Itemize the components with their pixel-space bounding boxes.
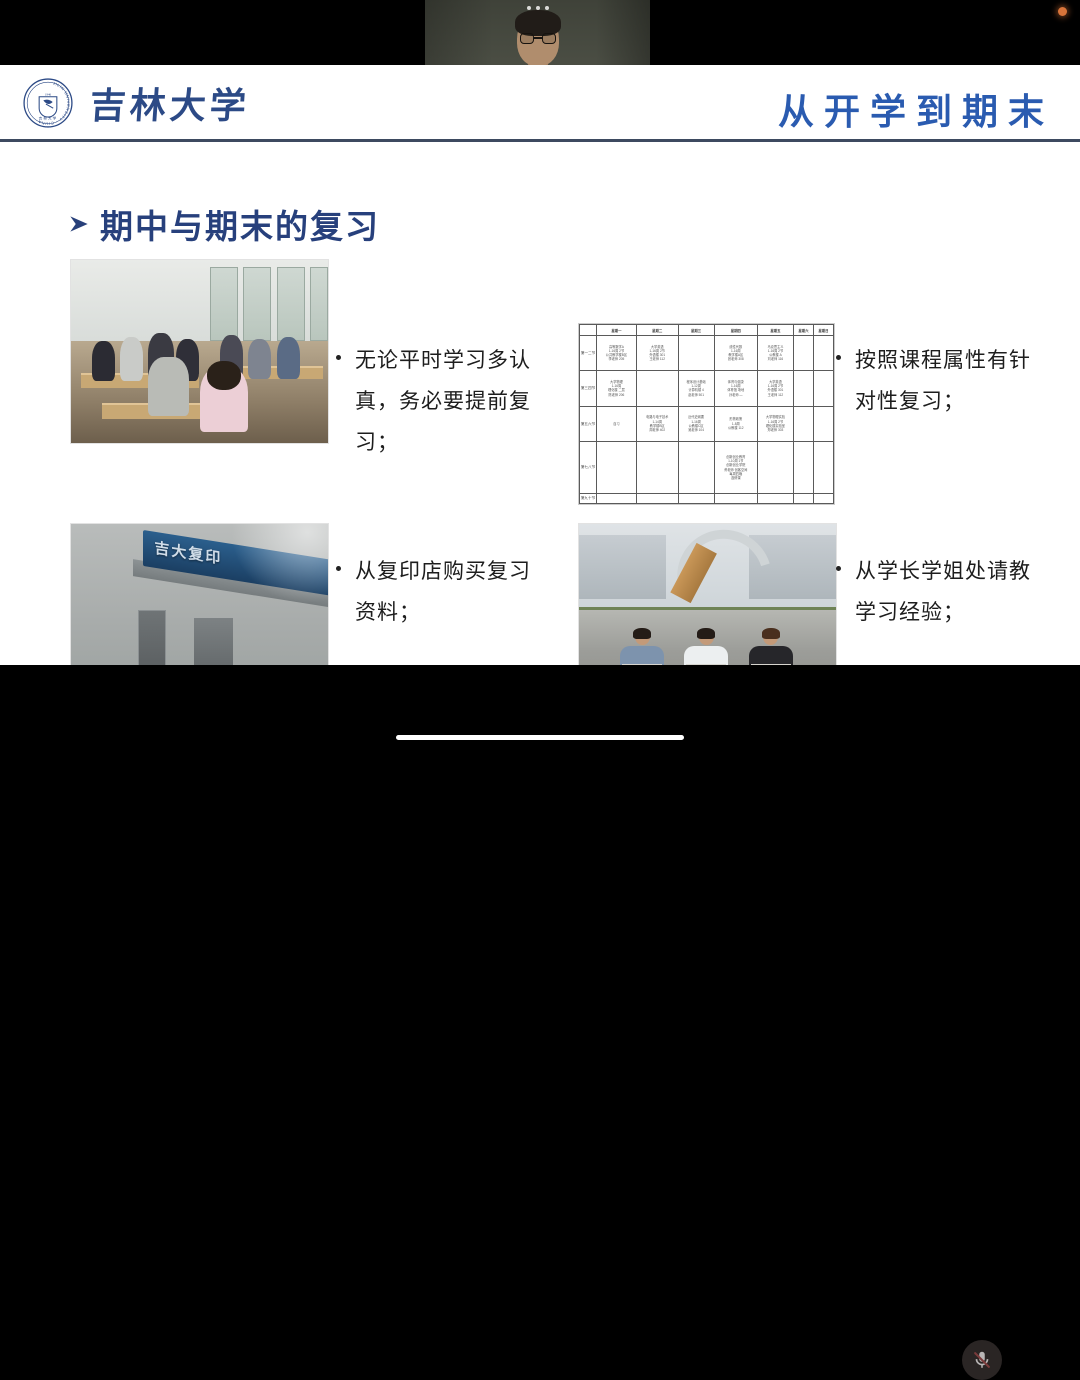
schedule-col: 星期三: [678, 325, 714, 336]
schedule-cell: 自习: [597, 406, 637, 441]
schedule-table: 星期一星期二 星期三星期四 星期五星期六 星期日 第一二节高等数学A 1-16周…: [579, 324, 834, 504]
schedule-cell: [793, 494, 813, 504]
schedule-cell: [597, 494, 637, 504]
schedule-row-head: 第一二节: [580, 336, 597, 371]
bullet-text: 从学长学姐处请教学习经验；: [855, 552, 1051, 634]
schedule-cell: 大学英语 1-16周 2节 外语楼 301 王老师 112: [757, 371, 793, 406]
bullet-item-schedule: 按照课程属性有针对性复习；: [836, 341, 1051, 423]
bullet-text: 无论平时学习多认真，务必要提前复习；: [355, 341, 551, 464]
schedule-cell: [714, 494, 757, 504]
recording-dot: [1058, 7, 1067, 16]
schedule-cell: [636, 494, 678, 504]
schedule-row: 第一二节高等数学A 1-16周 2节 公共教学楼B区 李老师 205大学英语 1…: [580, 336, 834, 371]
university-seal-icon: JILIN UNIVERSITY · CHINA 1946 吉林大学: [22, 77, 74, 129]
schedule-cell: [678, 441, 714, 493]
schedule-cell: [636, 441, 678, 493]
bullet-item-copyshop: 从复印店购买复习资料；: [336, 552, 551, 634]
bullet-dot-icon: [336, 355, 341, 360]
photo-class-schedule: 星期一星期二 星期三星期四 星期五星期六 星期日 第一二节高等数学A 1-16周…: [578, 323, 835, 505]
schedule-row-head: 第七八节: [580, 441, 597, 493]
schedule-cell: [813, 494, 833, 504]
bullet-item-seniors: 从学长学姐处请教学习经验；: [836, 552, 1051, 634]
schedule-col: 星期五: [757, 325, 793, 336]
schedule-row: 第七八节创新创业教育 1-10周 1节 创新创业学院 黄老师 创客空间 每周四晚…: [580, 441, 834, 493]
arrow-bullet-icon: [66, 211, 92, 237]
schedule-cell: [813, 371, 833, 406]
schedule-col: 星期一: [597, 325, 637, 336]
mic-toggle-button[interactable]: [962, 1340, 1002, 1380]
svg-text:吉林大学: 吉林大学: [39, 116, 58, 121]
schedule-row-head: 第三四节: [580, 371, 597, 406]
slide-title: 期中与期末的复习: [66, 200, 380, 248]
microphone-muted-icon: [971, 1349, 993, 1371]
schedule-row-head: 第五六节: [580, 406, 597, 441]
schedule-row: 第九十节: [580, 494, 834, 504]
schedule-cell: [636, 371, 678, 406]
schedule-cell: [813, 441, 833, 493]
slide-title-text: 期中与期末的复习: [100, 200, 380, 248]
schedule-cell: [757, 494, 793, 504]
schedule-cell: 马克思主义 1-16周 2节 公教楼 A 刘老师 116: [757, 336, 793, 371]
schedule-cell: 创新创业教育 1-10周 1节 创新创业学院 黄老师 创客空间 每周四晚 选修课: [714, 441, 757, 493]
schedule-row: 第五六节自习电路与电子技术 1-14周 教学楼B区 周老师 402近代史纲要 1…: [580, 406, 834, 441]
slide-header-title: 从开学到期末: [778, 83, 1054, 135]
schedule-header-row: 星期一星期二 星期三星期四 星期五星期六 星期日: [580, 325, 834, 336]
schedule-cell: [793, 406, 813, 441]
slide-surface[interactable]: JILIN UNIVERSITY · CHINA 1946 吉林大学 吉林大学 …: [0, 65, 1080, 665]
schedule-cell: 大学物理 1-16周 理化楼 二层 陈老师 206: [597, 371, 637, 406]
schedule-col: 星期日: [813, 325, 833, 336]
home-bar: [396, 735, 684, 740]
university-logo: JILIN UNIVERSITY · CHINA 1946 吉林大学 吉林大学: [22, 77, 250, 129]
schedule-cell: 程序设计基础 1-12周 计算机楼 4 赵老师 501: [678, 371, 714, 406]
schedule-cell: 大学物理实验 1-16周 2节 理化楼实验室 郑老师 303: [757, 406, 793, 441]
schedule-cell: 高等数学A 1-16周 2节 公共教学楼B区 李老师 205: [597, 336, 637, 371]
schedule-cell: [793, 336, 813, 371]
photo-classroom: [70, 259, 329, 444]
bullet-item-classroom: 无论平时学习多认真，务必要提前复习；: [336, 341, 551, 464]
header-divider: [0, 139, 1080, 142]
schedule-cell: [813, 406, 833, 441]
schedule-cell: [813, 336, 833, 371]
university-wordmark: 吉林大学: [88, 77, 252, 129]
glasses-icon: [520, 33, 556, 44]
schedule-cell: 近代史纲要 1-16周 公教楼C区 吴老师 104: [678, 406, 714, 441]
schedule-col: 星期四: [714, 325, 757, 336]
bullet-dot-icon: [836, 355, 841, 360]
schedule-cell: [678, 494, 714, 504]
more-dots-icon[interactable]: [527, 6, 549, 10]
bullet-text: 从复印店购买复习资料；: [355, 552, 551, 634]
slide-header: JILIN UNIVERSITY · CHINA 1946 吉林大学 吉林大学 …: [0, 65, 1080, 139]
schedule-cell: 电路与电子技术 1-14周 教学楼B区 周老师 402: [636, 406, 678, 441]
schedule-col: 星期六: [793, 325, 813, 336]
screen-root: 李文博 JILIN UNIVERSITY · CHINA 1946 吉林大学: [0, 0, 1080, 751]
schedule-cell: [678, 336, 714, 371]
bottom-bar: [0, 665, 1080, 751]
schedule-cell: 线性代数 1-16周 教学楼A区 张老师 308: [714, 336, 757, 371]
schedule-cell: [793, 441, 813, 493]
schedule-row-head: 第九十节: [580, 494, 597, 504]
schedule-cell: 形势政策 1-8周 公教楼 112: [714, 406, 757, 441]
schedule-col: 星期二: [636, 325, 678, 336]
schedule-cell: [597, 441, 637, 493]
schedule-cell: [757, 441, 793, 493]
schedule-corner: [580, 325, 597, 336]
schedule-cell: 体育与健康 1-16周 体育馆 场地 孙老师 —: [714, 371, 757, 406]
schedule-row: 第三四节大学物理 1-16周 理化楼 二层 陈老师 206程序设计基础 1-12…: [580, 371, 834, 406]
schedule-cell: [793, 371, 813, 406]
bullet-dot-icon: [336, 566, 341, 571]
svg-text:1946: 1946: [45, 93, 52, 97]
bullet-dot-icon: [836, 566, 841, 571]
schedule-cell: 大学英语 1-16周 2节 外语楼 301 王老师 112: [636, 336, 678, 371]
bullet-text: 按照课程属性有针对性复习；: [855, 341, 1051, 423]
